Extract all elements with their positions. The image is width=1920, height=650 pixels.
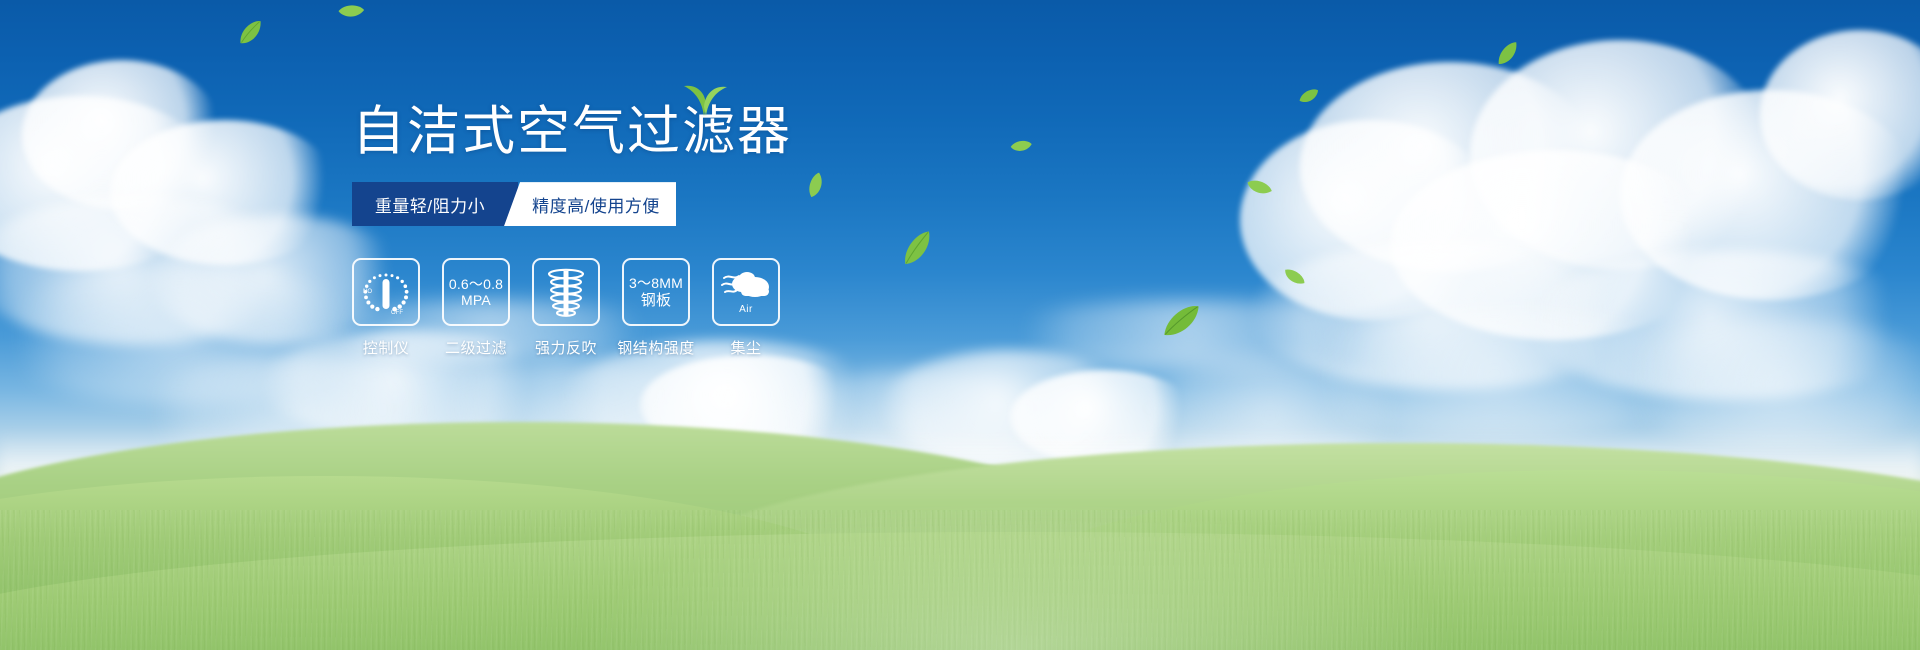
leaf-icon (895, 229, 940, 270)
cloud-shape (1760, 30, 1920, 200)
feature-list: NO OFF 控制仪 0.6～0.8 MPA 二级过滤 (352, 258, 872, 358)
cloud-shape (1390, 150, 1720, 340)
leaf-icon (234, 18, 269, 48)
leaf-icon (1492, 40, 1524, 68)
pressure-range: 0.6～0.8 (449, 276, 503, 293)
filter-cartridge-icon (542, 267, 590, 317)
control-dial-icon: NO OFF (360, 266, 412, 318)
product-hero-banner: 自洁式空气过滤器 重量轻/阻力小 精度高/使用方便 (0, 0, 1920, 650)
cloud-shape (1300, 62, 1600, 272)
dial-off-label: OFF (391, 310, 403, 316)
cloud-shape (1250, 240, 1650, 390)
cloud-air-icon (721, 269, 771, 303)
cloud-shape (1470, 40, 1770, 270)
feature-icon-box: NO OFF (352, 258, 420, 326)
feature-item[interactable]: NO OFF 控制仪 (352, 258, 420, 358)
grass-highlight (576, 500, 1459, 650)
tagline-pills: 重量轻/阻力小 精度高/使用方便 (352, 182, 676, 226)
leaf-icon (1281, 263, 1306, 291)
air-label: Air (739, 304, 753, 316)
leaf-icon (1157, 303, 1207, 341)
leaf-icon (1009, 138, 1033, 155)
feature-label: 钢结构强度 (617, 337, 695, 358)
steel-thickness: 3～8MM (629, 275, 683, 292)
cloud-shape (1240, 120, 1500, 320)
cloud-shape (0, 195, 300, 345)
page-title: 自洁式空气过滤器 (352, 104, 872, 160)
cloud-shape (1530, 250, 1920, 400)
pressure-unit: MPA (461, 292, 491, 309)
cloud-shape (110, 120, 340, 265)
feature-icon-box (532, 258, 600, 326)
feature-item[interactable]: 强力反吹 (532, 258, 600, 358)
sprout-leaf-icon (682, 82, 728, 121)
feature-icon-box: 3～8MM 钢板 (622, 258, 690, 326)
tagline-primary: 重量轻/阻力小 (352, 182, 518, 226)
feature-item[interactable]: 3～8MM 钢板 钢结构强度 (622, 258, 690, 358)
feature-icon-box: 0.6～0.8 MPA (442, 258, 510, 326)
cloud-shape (22, 60, 222, 210)
cloud-shape (1620, 90, 1920, 300)
leaf-icon (336, 0, 365, 22)
leaf-icon (1244, 173, 1274, 201)
feature-item[interactable]: 0.6～0.8 MPA 二级过滤 (442, 258, 510, 358)
feature-label: 控制仪 (363, 337, 410, 358)
steel-material: 钢板 (641, 292, 671, 310)
cloud-shape (0, 265, 380, 405)
feature-label: 强力反吹 (535, 337, 597, 358)
feature-item[interactable]: Air 集尘 (712, 258, 780, 358)
dial-on-label: NO (363, 289, 372, 295)
cloud-shape (0, 96, 220, 271)
feature-label: 集尘 (730, 337, 761, 358)
tagline-secondary: 精度高/使用方便 (504, 182, 676, 226)
banner-content: 自洁式空气过滤器 重量轻/阻力小 精度高/使用方便 (352, 104, 872, 358)
feature-label: 二级过滤 (445, 337, 507, 358)
feature-icon-box: Air (712, 258, 780, 326)
leaf-icon (1297, 88, 1321, 105)
grass-ground (0, 410, 1920, 650)
